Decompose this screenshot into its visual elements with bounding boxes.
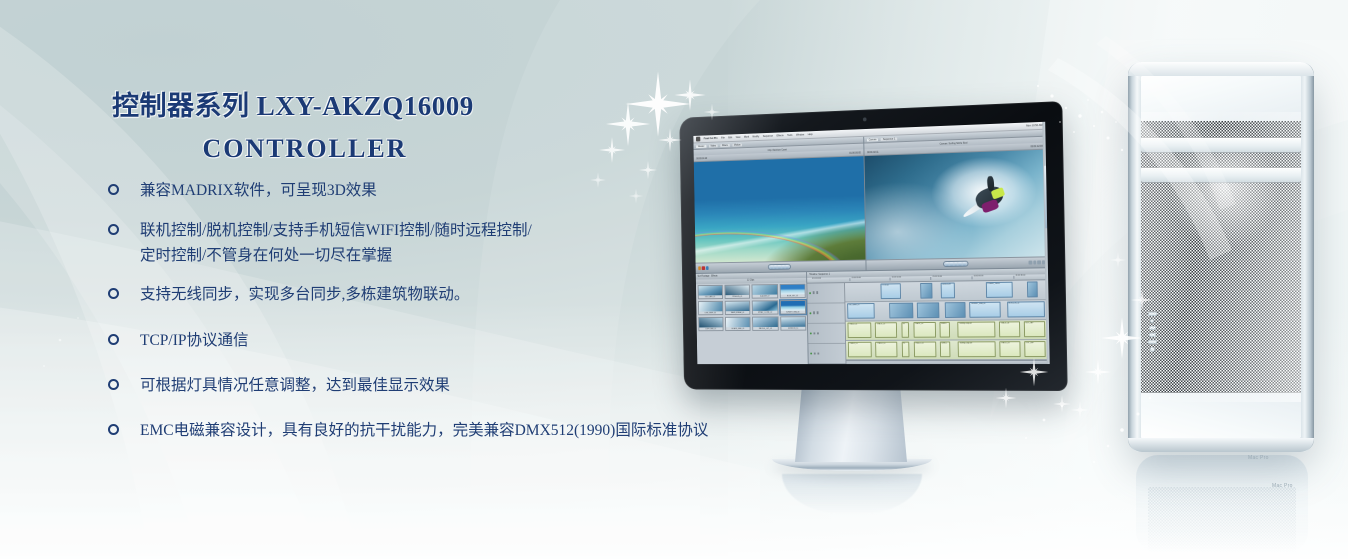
menu-item-modify[interactable]: Modify xyxy=(753,135,760,138)
hollow-circle-bullet-icon xyxy=(108,334,119,345)
timeline-clip[interactable]: Surfing Loop.aiff xyxy=(958,322,995,338)
tower-right-edge xyxy=(1301,62,1314,452)
menu-item-effects[interactable]: Effects xyxy=(777,134,784,137)
hollow-circle-bullet-icon xyxy=(108,424,119,435)
timeline-track[interactable]: TRACK_01 TRACK_02 FX TRACK_03 SWELL Surf… xyxy=(846,340,1050,360)
hollow-circle-bullet-icon xyxy=(108,224,119,235)
tower-bottom-edge xyxy=(1128,438,1314,452)
playback-controls-icon[interactable] xyxy=(943,260,968,267)
menu-item-view[interactable]: View xyxy=(736,136,741,139)
surfer-wave-spray-photo xyxy=(864,150,1047,260)
optical-drive-slot[interactable] xyxy=(1141,138,1301,152)
timeline-clip[interactable]: TRACK_02 xyxy=(875,342,897,358)
timeline-horizontal-scrollbar[interactable] xyxy=(846,360,1050,364)
canvas-image-area xyxy=(864,150,1047,260)
optical-drive-slot[interactable] xyxy=(1141,168,1301,182)
canvas-timecode-in[interactable]: 00:01:02:11 xyxy=(867,150,878,153)
list-item: TCP/IP协议通信 xyxy=(108,328,868,353)
list-item-label: 兼容MADRIX软件，可呈现3D效果 xyxy=(140,178,868,203)
menu-item-mark[interactable]: Mark xyxy=(744,136,749,139)
hollow-circle-bullet-icon xyxy=(108,379,119,390)
tower-side-label-reflection: Mac Pro xyxy=(1272,483,1293,489)
tower-bottom-handle xyxy=(1139,393,1303,439)
perforated-aluminum-mesh xyxy=(1139,112,1303,402)
timeline-clip[interactable]: SWELL xyxy=(939,322,949,338)
timeline-clip[interactable]: TRACK_04 xyxy=(999,342,1020,358)
firewire-port-icon[interactable] xyxy=(1149,326,1156,330)
viewer-timecode-out[interactable]: 01:00:00:00 xyxy=(849,151,861,154)
timeline-clip[interactable]: OUT_LAP xyxy=(1024,322,1045,338)
tower-left-edge xyxy=(1128,62,1141,452)
list-item-label: 支持无线同步，实现多台同步,多栋建筑物联动。 xyxy=(140,282,868,307)
list-item-label: EMC电磁兼容设计，具有良好的抗干扰能力，完美兼容DMX512(1990)国际标… xyxy=(140,418,868,443)
timeline-tracks[interactable]: TITLE_A DISSOLVE LOWER_THIRD ICE_CAVE_01 xyxy=(845,280,1050,364)
usb-port-icon[interactable] xyxy=(1148,340,1157,344)
menu-item-help[interactable]: Help xyxy=(808,133,813,136)
front-port-cluster[interactable] xyxy=(1145,312,1159,352)
tab-video[interactable]: Video xyxy=(709,144,718,147)
menu-item-tools[interactable]: Tools xyxy=(787,134,792,137)
timeline-clip[interactable]: SWELL xyxy=(940,342,950,358)
ruler-label: 01:01:30:00 xyxy=(933,276,942,278)
timeline-clip[interactable]: TRACK_03 xyxy=(913,342,935,358)
mac-pro-tower xyxy=(1128,62,1314,452)
ruler-label: 01:01:00:00 xyxy=(892,277,901,279)
hollow-circle-bullet-icon xyxy=(108,184,119,195)
ruler-label: 01:02:00:00 xyxy=(974,276,984,278)
feature-list: 兼容MADRIX软件，可呈现3D效果 联机控制/脱机控制/支持手机短信WIFI控… xyxy=(108,178,868,443)
timeline-clip[interactable]: SUNSET_SEA_06 xyxy=(970,302,1001,318)
menu-item-sequence[interactable]: Sequence xyxy=(763,135,773,138)
menu-item-window[interactable]: Window xyxy=(796,133,804,136)
menu-item-edit[interactable]: Edit xyxy=(728,136,732,139)
timeline-clip[interactable]: TRACK_03 xyxy=(913,322,935,338)
timeline-track[interactable]: ICE_CAVE_01 SUNSET_SEA_06 HORIZON_10 xyxy=(845,300,1049,322)
timeline-clip[interactable] xyxy=(945,302,966,318)
tab-motion[interactable]: Motion xyxy=(732,143,742,146)
power-button-icon[interactable] xyxy=(1150,347,1155,352)
ruler-label: 01:02:30:00 xyxy=(1016,275,1026,277)
list-item-label-cont: 定时控制/不管身在何处一切尽在掌握 xyxy=(140,243,868,268)
timeline-clip[interactable] xyxy=(917,303,940,319)
timeline-clip[interactable]: Surfing Loop.aiff xyxy=(958,342,995,358)
menubar-clock[interactable]: Mon 10:50 AM xyxy=(1026,124,1042,128)
list-item: EMC电磁兼容设计，具有良好的抗干扰能力，完美兼容DMX512(1990)国际标… xyxy=(108,418,868,443)
list-item: 可根据灯具情况任意调整，达到最佳显示效果 xyxy=(108,373,868,398)
list-item: 联机控制/脱机控制/支持手机短信WIFI控制/随时远程控制/ 定时控制/不管身在… xyxy=(108,218,868,268)
timeline-clip[interactable]: HORIZON_10 xyxy=(1007,302,1045,318)
timeline-track[interactable]: TITLE_A DISSOLVE LOWER_THIRD xyxy=(845,280,1049,302)
timeline-clip[interactable]: TRACK_02 xyxy=(875,323,897,339)
timeline-clip[interactable]: DISSOLVE xyxy=(941,283,956,299)
canvas-panel: Canvas Sequence 1 Canvas: Surfing Sizzle… xyxy=(864,130,1048,270)
title-group: 控制器系列 LXY-AKZQ16009 CONTROLLER xyxy=(0,84,660,164)
list-item-label: 可根据灯具情况任意调整，达到最佳显示效果 xyxy=(140,373,868,398)
tab-canvas[interactable]: Canvas xyxy=(867,138,878,141)
timeline-clip[interactable]: TITLE_A xyxy=(880,284,900,300)
timeline-clip[interactable]: TRACK_04 xyxy=(999,322,1020,338)
tower-side-label: Mac Pro xyxy=(1248,455,1269,461)
timeline-clip[interactable]: FX xyxy=(901,323,909,339)
timeline-clip[interactable] xyxy=(1027,282,1038,298)
list-item: 支持无线同步，实现多台同步,多栋建筑物联动。 xyxy=(108,282,868,307)
tower-reflection xyxy=(1136,455,1308,553)
banner-canvas: Final Cut Pro File Edit View Mark Modify… xyxy=(0,0,1348,559)
hollow-circle-bullet-icon xyxy=(108,288,119,299)
tab-filters[interactable]: Filters xyxy=(720,143,729,146)
page-subtitle: CONTROLLER xyxy=(0,134,560,164)
headphone-jack-icon[interactable] xyxy=(1150,319,1154,323)
timeline-clip[interactable]: OUT_LAP xyxy=(1024,342,1045,358)
timeline-clip[interactable] xyxy=(889,303,913,319)
firewire-port-icon[interactable] xyxy=(1149,333,1156,337)
text-content-block: 控制器系列 LXY-AKZQ16009 CONTROLLER 兼容MADRIX软… xyxy=(0,0,700,559)
list-item-label: TCP/IP协议通信 xyxy=(140,328,868,353)
usb-port-icon[interactable] xyxy=(1148,312,1157,316)
menu-item-file[interactable]: File xyxy=(721,137,725,140)
tower-top-handle xyxy=(1139,75,1303,121)
timeline-clip[interactable]: FX xyxy=(901,342,909,358)
canvas-extra-buttons[interactable] xyxy=(1029,260,1045,264)
page-title: 控制器系列 LXY-AKZQ16009 xyxy=(0,84,660,123)
timeline-clip[interactable]: LOWER_THIRD xyxy=(986,282,1013,298)
menu-item-app[interactable]: Final Cut Pro xyxy=(704,137,718,140)
list-item: 兼容MADRIX软件，可呈现3D效果 xyxy=(108,178,868,203)
list-item-label: 联机控制/脱机控制/支持手机短信WIFI控制/随时远程控制/ xyxy=(140,218,868,243)
surfer-figure xyxy=(961,172,1018,224)
tower-top-edge xyxy=(1128,62,1314,76)
canvas-timecode-out[interactable]: 01:01:12:04 xyxy=(1031,144,1043,147)
timeline-track[interactable]: TRACK_01 TRACK_02 FX TRACK_03 SWELL Surf… xyxy=(845,320,1049,341)
tab-sequence-1[interactable]: Sequence 1 xyxy=(881,137,897,141)
timeline-clip[interactable] xyxy=(920,283,932,299)
